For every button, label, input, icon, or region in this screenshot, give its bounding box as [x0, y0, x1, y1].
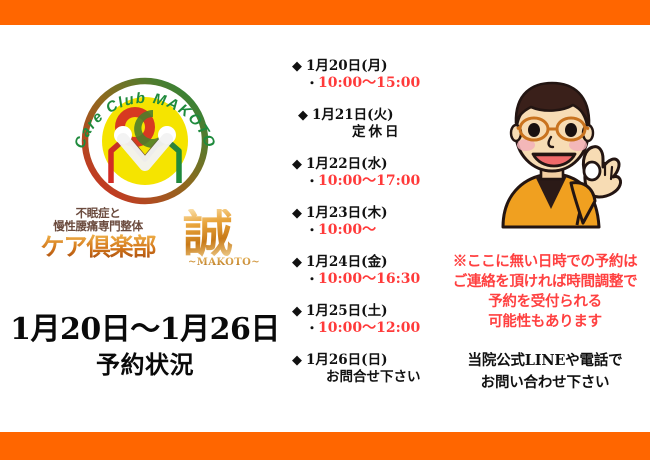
schedule-day: ◆1月25日(土) [292, 303, 442, 320]
schedule-item: ◆1月23日(木) ・10:00〜 [292, 205, 442, 254]
schedule-list: ◆1月20日(月) ・10:00〜15:00 ◆1月21日(火) 定休日 ◆1月… [292, 58, 442, 401]
diamond-bullet-icon: ◆ [292, 59, 302, 74]
logo-tagline: 不眠症と 慢性腰痛専門整体 [23, 207, 173, 233]
right-column: ※ここに無い日時での予約は ご連絡を頂ければ時間調整で 予約を受付られる 可能性… [440, 30, 650, 428]
logo-wordmark: 不眠症と 慢性腰痛専門整体 ケア倶楽部 誠 ~MAKOTO~ [15, 207, 275, 269]
schedule-time: ・10:00〜15:00 [292, 75, 442, 92]
schedule-day-label: 1月20日(月) [306, 58, 387, 74]
schedule-day: ◆1月23日(木) [292, 205, 442, 222]
schedule-day-label: 1月25日(土) [306, 303, 387, 319]
schedule-item: ◆1月22日(水) ・10:00〜17:00 [292, 156, 442, 205]
logo-name: ケア倶楽部 [17, 234, 179, 260]
dot-bullet-icon: ・ [306, 76, 318, 90]
bottom-orange-bar [0, 432, 650, 460]
availability-note-line4: 可能性もあります [440, 312, 650, 332]
dot-bullet-icon: ・ [306, 321, 318, 335]
logo-kanji: 誠 [183, 209, 233, 259]
top-orange-bar [0, 0, 650, 25]
diamond-bullet-icon: ◆ [292, 157, 302, 172]
left-column: Care Club MAKOTO 不眠症と 慢性腰痛専門整体 ケア倶楽部 誠 ~… [0, 30, 290, 425]
schedule-day-label: 1月22日(水) [306, 156, 387, 172]
schedule-day-label: 1月24日(金) [306, 254, 387, 270]
schedule-time: ・10:00〜16:30 [292, 271, 442, 288]
diamond-bullet-icon: ◆ [298, 108, 308, 123]
diamond-bullet-icon: ◆ [292, 353, 302, 368]
schedule-item: ◆1月26日(日) お問合せ下さい [292, 352, 442, 401]
diamond-bullet-icon: ◆ [292, 304, 302, 319]
schedule-time-label: 10:00〜17:00 [318, 173, 420, 189]
smiling-man-ok-gesture-icon [485, 75, 625, 230]
schedule-item: ◆1月24日(金) ・10:00〜16:30 [292, 254, 442, 303]
schedule-day-label: 1月21日(火) [312, 107, 393, 123]
page-subtitle: 予約状況 [0, 350, 290, 380]
dot-bullet-icon: ・ [306, 223, 318, 237]
schedule-day: ◆1月21日(火) [292, 107, 442, 124]
dot-bullet-icon: ・ [306, 272, 318, 286]
reservation-status-poster: Care Club MAKOTO 不眠症と 慢性腰痛専門整体 ケア倶楽部 誠 ~… [0, 0, 650, 460]
availability-note-line3: 予約を受付られる [440, 292, 650, 312]
diamond-bullet-icon: ◆ [292, 255, 302, 270]
logo-mark: Care Club MAKOTO [65, 55, 225, 215]
schedule-item: ◆1月25日(土) ・10:00〜12:00 [292, 303, 442, 352]
contact-note-line2: お問い合わせ下さい [440, 372, 650, 394]
clinic-logo: Care Club MAKOTO 不眠症と 慢性腰痛専門整体 ケア倶楽部 誠 ~… [0, 55, 290, 269]
schedule-time-label: 10:00〜 [318, 222, 376, 238]
contact-note: 当院公式LINEや電話で お問い合わせ下さい [440, 350, 650, 394]
schedule-time-label: 10:00〜16:30 [318, 271, 420, 287]
schedule-day-label: 1月23日(木) [306, 205, 387, 221]
availability-note: ※ここに無い日時での予約は ご連絡を頂ければ時間調整で 予約を受付られる 可能性… [440, 252, 650, 332]
schedule-time: ・10:00〜12:00 [292, 320, 442, 337]
schedule-time-label: 10:00〜12:00 [318, 320, 420, 336]
schedule-day: ◆1月22日(水) [292, 156, 442, 173]
schedule-day: ◆1月24日(金) [292, 254, 442, 271]
schedule-day: ◆1月26日(日) [292, 352, 442, 369]
logo-romaji: ~MAKOTO~ [181, 257, 267, 268]
availability-note-line2: ご連絡を頂ければ時間調整で [440, 272, 650, 292]
logo-circle-icon: Care Club MAKOTO [65, 55, 225, 215]
diamond-bullet-icon: ◆ [292, 206, 302, 221]
headline: 1月20日〜1月26日 予約状況 [0, 312, 290, 380]
schedule-day: ◆1月20日(月) [292, 58, 442, 75]
page-title: 1月20日〜1月26日 [0, 312, 290, 348]
schedule-time: ・10:00〜 [292, 222, 442, 239]
contact-note-line1: 当院公式LINEや電話で [440, 350, 650, 372]
availability-note-line1: ※ここに無い日時での予約は [440, 252, 650, 272]
schedule-day-label: 1月26日(日) [306, 352, 387, 368]
schedule-note: お問合せ下さい [292, 369, 442, 386]
schedule-time: ・10:00〜17:00 [292, 173, 442, 190]
mascot-illustration [485, 75, 625, 230]
schedule-note: 定休日 [292, 124, 442, 141]
schedule-item: ◆1月21日(火) 定休日 [292, 107, 442, 156]
dot-bullet-icon: ・ [306, 174, 318, 188]
schedule-time-label: 10:00〜15:00 [318, 75, 420, 91]
schedule-item: ◆1月20日(月) ・10:00〜15:00 [292, 58, 442, 107]
